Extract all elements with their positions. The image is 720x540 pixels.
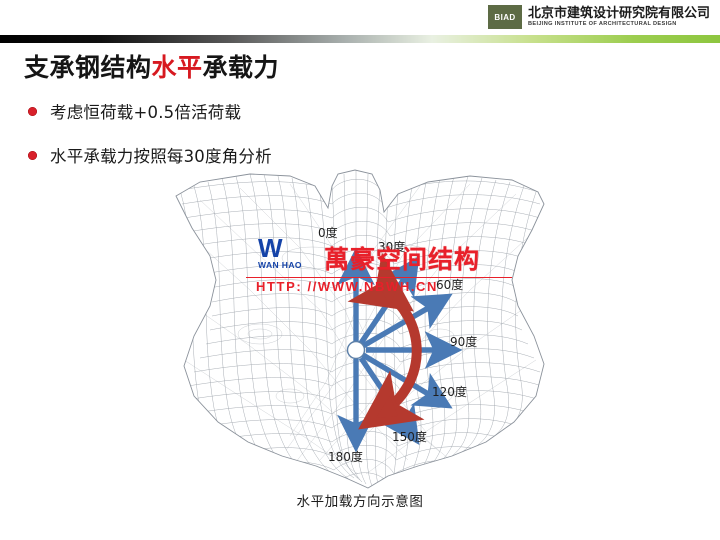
load-direction-diagram: 0度 30度 60度 90度 120度 150度 180度 <box>140 160 580 500</box>
load-origin-hub <box>348 342 365 359</box>
title-part-1: 支承钢结构 <box>24 53 152 82</box>
angle-label-150: 150度 <box>392 428 427 445</box>
header-gradient-rule <box>0 35 720 43</box>
company-name-en: BEIJING INSTITUTE OF ARCHITECTURAL DESIG… <box>528 22 710 28</box>
biad-logo-text: BIAD <box>494 13 515 22</box>
slide: BIAD 北京市建筑设计研究院有限公司 BEIJING INSTITUTE OF… <box>0 0 720 540</box>
angle-label-90: 90度 <box>450 333 477 350</box>
angle-label-180: 180度 <box>328 448 363 465</box>
biad-logo-icon: BIAD <box>488 5 522 29</box>
figure-caption: 水平加载方向示意图 <box>0 490 720 510</box>
brand-text-block: 北京市建筑设计研究院有限公司 BEIJING INSTITUTE OF ARCH… <box>528 7 710 28</box>
bullet-label: 考虑恒荷载+0.5倍活荷载 <box>50 99 241 123</box>
list-item: 考虑恒荷载+0.5倍活荷载 <box>28 99 272 123</box>
load-arrows <box>356 268 442 432</box>
angle-label-60: 60度 <box>436 276 463 293</box>
title-part-2: 承载力 <box>203 53 280 82</box>
bullet-dot-icon <box>28 151 37 160</box>
brand-header: BIAD 北京市建筑设计研究院有限公司 BEIJING INSTITUTE OF… <box>488 5 710 29</box>
company-name-cn: 北京市建筑设计研究院有限公司 <box>528 7 710 20</box>
angle-label-120: 120度 <box>432 383 467 400</box>
page-title: 支承钢结构水平承载力 <box>24 48 279 84</box>
angle-label-30: 30度 <box>378 238 405 255</box>
angle-label-0: 0度 <box>318 224 338 241</box>
title-highlight: 水平 <box>152 53 203 82</box>
bullet-dot-icon <box>28 107 37 116</box>
